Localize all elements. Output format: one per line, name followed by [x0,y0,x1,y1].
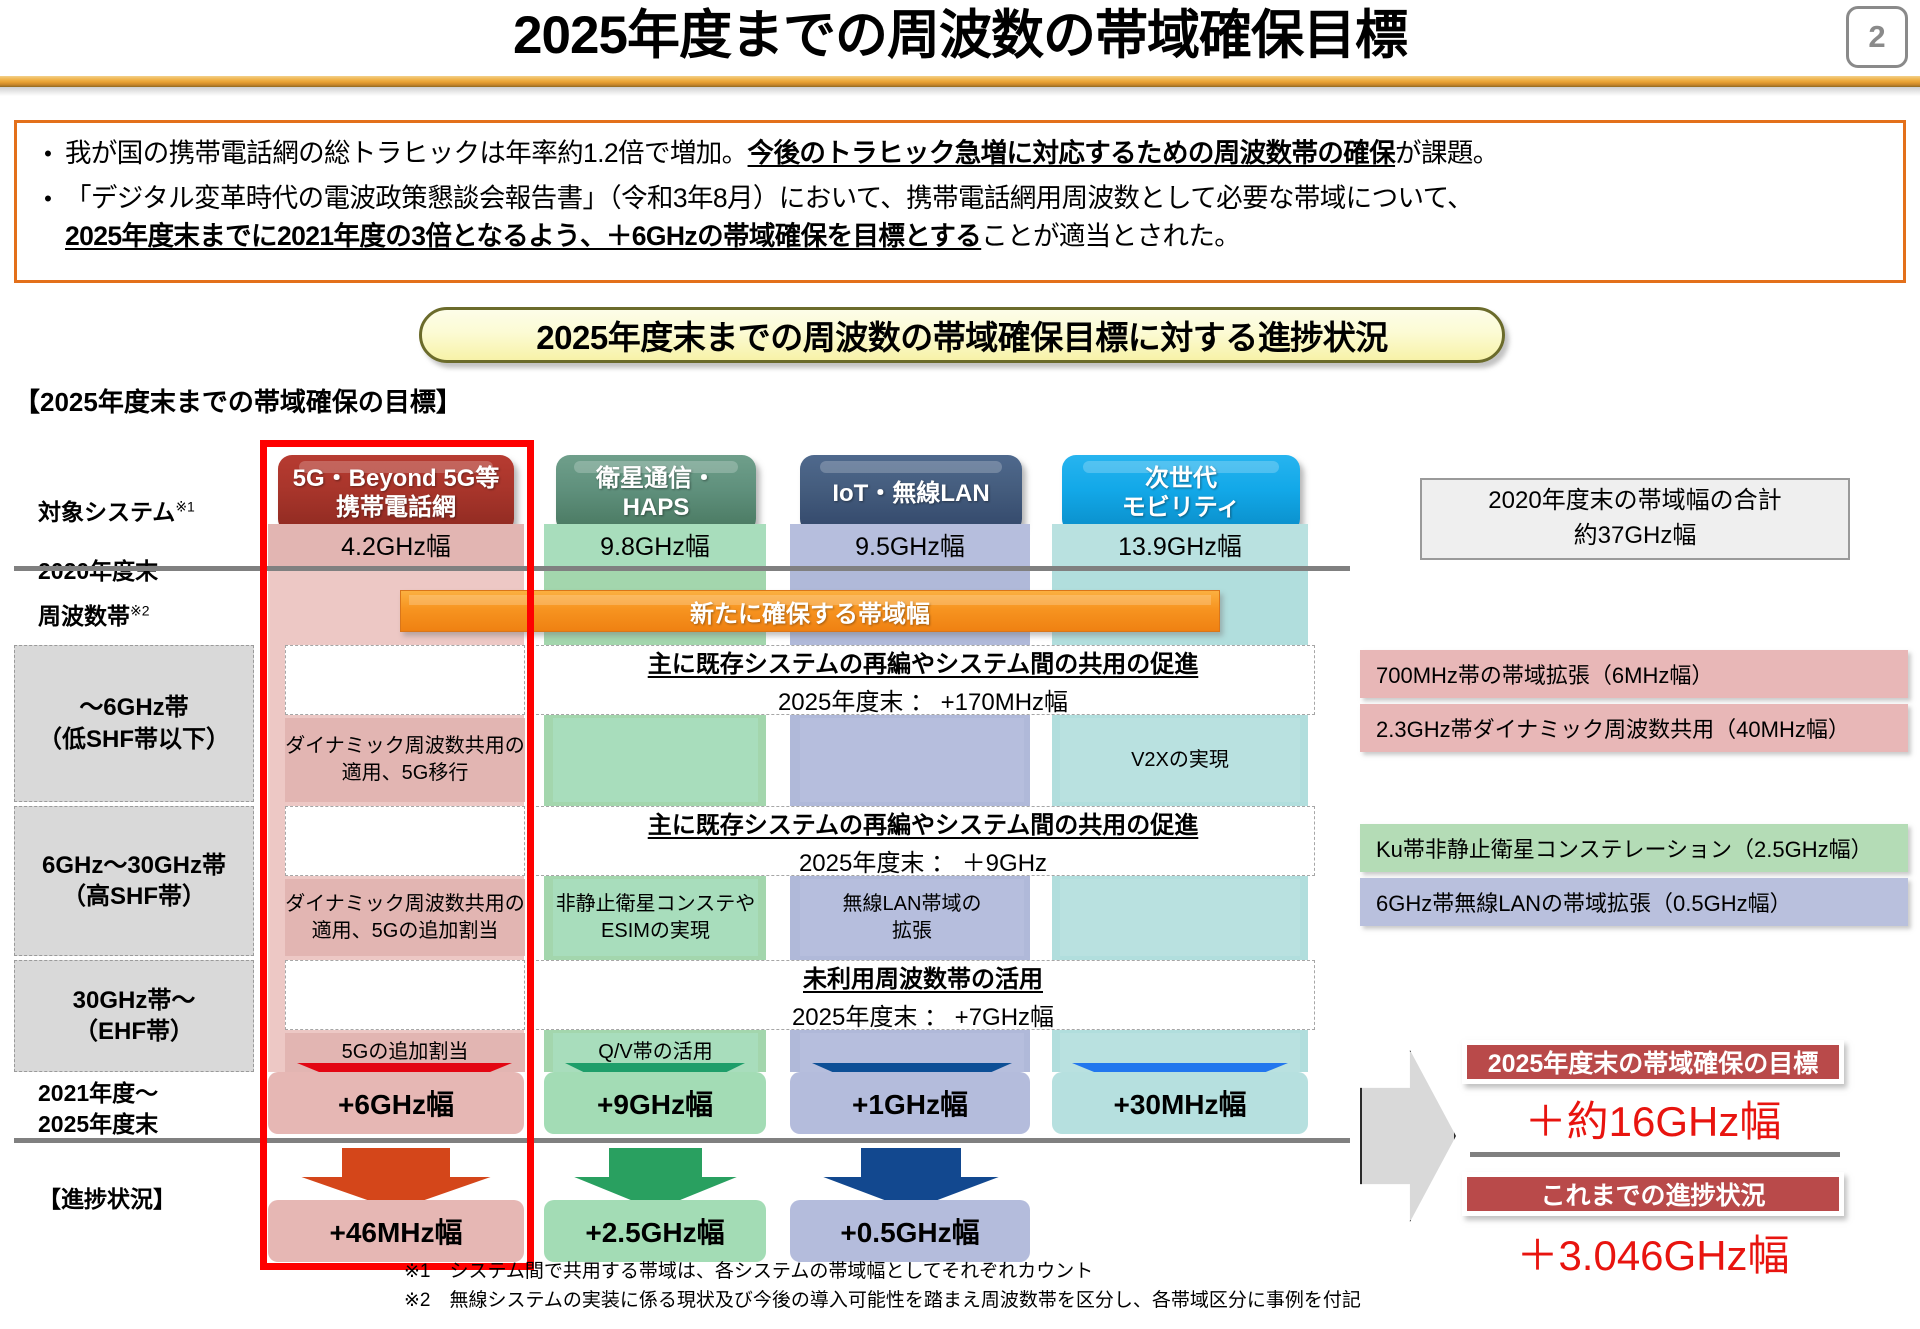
progress-value-satellite: +2.5GHz幅 [544,1200,766,1262]
side-tag-0: 700MHz帯の帯域拡張（6MHz幅） [1360,650,1908,698]
fy2020-value-satellite: 9.8GHz幅 [544,524,766,566]
band-subvalue-2: 2025年度末 ： +7GHz幅 [792,997,1054,1032]
system-box-mobile[interactable]: 5G・Beyond 5G等携帯電話網 [278,455,514,533]
band-1-note-mobile: ダイナミック周波数共用の適用、5Gの追加割当 [285,879,525,956]
target-value-mobility: +30MHz幅 [1052,1072,1308,1134]
system-1-line2: HAPS [623,494,690,521]
system-box-iot[interactable]: IoT・無線LAN [800,455,1022,533]
footnote-1: ※1 システム間で共用する帯域は、各システムの帯域幅としてそれぞれカウント [404,1258,1361,1287]
band-row-label-1: 6GHz～30GHz帯（高SHF帯） [14,806,254,956]
band-label-2-line2: （EHF帯） [74,1018,194,1045]
bullet-2-part2: ことが適当とされた。 [981,221,1240,251]
goal-header-badge: 2025年度末の帯域確保の目標 [1462,1040,1844,1084]
band-headline-2: 未利用周波数帯の活用 [803,959,1043,994]
row-label-frequency-band: 周波数帯※2 [38,602,150,630]
row-label-frequency-band-text: 周波数帯 [38,603,130,629]
summary-bullets-box: • 我が国の携帯電話網の総トラヒックは年率約1.2倍で増加。今後のトラヒック急増… [14,120,1906,283]
system-0-line2: 携帯電話網 [336,494,456,521]
page-number-badge: 2 [1846,6,1908,68]
band-label-1-line1: 6GHz～30GHz帯 [42,852,226,879]
side-tag-1: 2.3GHz帯ダイナミック周波数共用（40MHz幅） [1360,704,1908,752]
row-label-period: 2021年度～2025年度末 [38,1078,158,1140]
band-1-note-satellite-line2: ESIMの実現 [601,920,710,942]
mobile-white-cell-1 [285,806,525,876]
row-label-frequency-band-sup: ※2 [130,602,150,618]
system-box-mobility[interactable]: 次世代モビリティ [1062,455,1300,533]
summary-divider [1470,1152,1840,1157]
section-heading: 【2025年度末までの帯域確保の目標】 [14,382,462,419]
bullet-2-emphasis: 2025年度末までに2021年度の3倍となるよう、＋6GHzの帯域確保を目標とす… [65,221,981,251]
bullet-1-part1: 我が国の携帯電話網の総トラヒックは年率約1.2倍で増加。 [65,138,748,168]
band-subvalue-1: 2025年度末 ： ＋9GHz [799,843,1047,878]
band-label-0-line2: （低SHF帯以下） [38,726,230,753]
bullet-2-line1: 「デジタル変革時代の電波政策懇談会報告書」（令和3年8月）において、携帯電話網用… [65,183,1473,213]
total-bandwidth-2020-line1: 2020年度末の帯域幅の合計 [1488,484,1781,519]
band-0-note-mobility: V2Xの実現 [1060,718,1300,802]
progress-total-value: ＋3.046GHz幅 [1462,1222,1844,1283]
band-1-note-satellite: 非静止衛星コンステやESIMの実現 [553,879,758,956]
system-3-line1: 次世代 [1145,465,1217,492]
band-headline-box-1: 主に既存システムの再編やシステム間の共用の促進 2025年度末 ： ＋9GHz [531,806,1315,876]
title-divider [0,74,1920,87]
band-1-note-mobile-line1: ダイナミック周波数共用の [285,893,525,915]
row-label-period-line1: 2021年度～ [38,1080,158,1106]
mobile-white-cell-2 [285,960,525,1030]
divider-under-fy2020 [14,566,1350,571]
bullet-text: 「デジタル変革時代の電波政策懇談会報告書」（令和3年8月）において、携帯電話網用… [65,180,1473,255]
band-label-2-line1: 30GHz帯～ [73,987,196,1014]
system-box-satellite[interactable]: 衛星通信・HAPS [556,455,756,533]
footnote-2: ※2 無線システムの実装に係る現状及び今後の導入可能性を踏まえ周波数帯を区分し、… [404,1287,1361,1316]
row-label-target-system-text: 対象システム [38,499,175,525]
band-headline-1: 主に既存システムの再編やシステム間の共用の促進 [648,805,1199,840]
system-2-line1: IoT・無線LAN [832,480,989,507]
total-bandwidth-2020-line2: 約37GHz幅 [1574,519,1697,554]
title-divider-shadow [0,87,1920,96]
band-1-note-iot-line1: 無線LAN帯域の [843,893,982,915]
bullet-item: • 「デジタル変革時代の電波政策懇談会報告書」（令和3年8月）において、携帯電話… [31,180,1889,255]
fy2020-value-mobility: 13.9GHz幅 [1052,524,1308,566]
fy2020-value-iot: 9.5GHz幅 [790,524,1030,566]
progress-value-iot: +0.5GHz幅 [790,1200,1030,1262]
fy2020-value-mobile: 4.2GHz幅 [268,524,524,566]
band-row-label-2: 30GHz帯～（EHF帯） [14,960,254,1072]
row-label-target-system: 対象システム※1 [38,498,195,526]
band-0-note-mobile-line2: 適用、5G移行 [342,762,469,784]
band-1-note-iot: 無線LAN帯域の拡張 [800,879,1024,956]
band-subvalue-0: 2025年度末 ： +170MHz幅 [778,682,1068,717]
row-label-period-line2: 2025年度末 [38,1111,158,1137]
summary-arrow-icon [1360,1050,1456,1222]
progress-banner-label: 2025年度末までの周波数の帯域確保目標に対する進捗状況 [536,311,1387,359]
divider-before-progress [14,1138,1350,1143]
bullet-1-part2: が課題。 [1395,138,1499,168]
goal-value: ＋約16GHz幅 [1462,1088,1844,1149]
band-1-cell-mobility [1060,879,1300,956]
system-1-line1: 衛星通信・ [596,465,716,492]
progress-header-badge: これまでの進捗状況 [1462,1172,1844,1216]
row-label-progress: 【進捗状況】 [38,1185,176,1213]
target-value-satellite: +9GHz幅 [544,1072,766,1134]
target-value-iot: +1GHz幅 [790,1072,1030,1134]
bullet-1-emphasis: 今後のトラヒック急増に対応するための周波数帯の確保 [748,138,1396,168]
band-headline-box-0: 主に既存システムの再編やシステム間の共用の促進 2025年度末 ： +170MH… [531,645,1315,715]
band-1-note-iot-line2: 拡張 [892,920,932,942]
side-tag-3: 6GHz帯無線LANの帯域拡張（0.5GHz幅） [1360,878,1908,926]
band-0-cell-satellite [553,718,758,802]
total-bandwidth-2020-box: 2020年度末の帯域幅の合計 約37GHz幅 [1420,478,1850,560]
system-3-line2: モビリティ [1122,494,1241,521]
bullet-marker: • [31,135,65,173]
bullet-text: 我が国の携帯電話網の総トラヒックは年率約1.2倍で増加。今後のトラヒック急増に対… [65,135,1499,173]
row-label-fy2020: 2020年度末 [38,557,158,585]
slide-root: 2025年度までの周波数の帯域確保目標 2 • 我が国の携帯電話網の総トラヒック… [0,0,1920,1329]
band-1-note-satellite-line1: 非静止衛星コンステや [556,893,756,915]
new-band-banner: 新たに確保する帯域幅 [400,590,1220,632]
row-label-target-system-sup: ※1 [175,498,195,514]
band-1-note-mobile-line2: 適用、5Gの追加割当 [312,920,499,942]
mobile-white-cell-0 [285,645,525,715]
band-label-1-line2: （高SHF帯） [62,883,206,910]
band-label-0-line1: ～6GHz帯 [79,694,188,721]
page-title: 2025年度までの周波数の帯域確保目標 [0,6,1920,67]
band-row-label-0: ～6GHz帯（低SHF帯以下） [14,645,254,802]
bullet-item: • 我が国の携帯電話網の総トラヒックは年率約1.2倍で増加。今後のトラヒック急増… [31,135,1889,173]
band-0-note-mobile-line1: ダイナミック周波数共用の [285,735,525,757]
band-0-cell-iot [800,718,1024,802]
band-0-note-mobile: ダイナミック周波数共用の適用、5G移行 [285,718,525,802]
progress-value-mobile: +46MHz幅 [268,1200,524,1262]
system-0-line1: 5G・Beyond 5G等 [293,465,500,492]
band-headline-box-2: 未利用周波数帯の活用 2025年度末 ： +7GHz幅 [531,960,1315,1030]
target-value-mobile: +6GHz幅 [268,1072,524,1134]
bullet-marker: • [31,180,65,218]
band-headline-0: 主に既存システムの再編やシステム間の共用の促進 [648,644,1199,679]
progress-banner: 2025年度末までの周波数の帯域確保目標に対する進捗状況 [419,307,1505,363]
side-tag-2: Ku帯非静止衛星コンステレーション（2.5GHz幅） [1360,824,1908,872]
footnotes: ※1 システム間で共用する帯域は、各システムの帯域幅としてそれぞれカウント ※2… [404,1258,1361,1315]
